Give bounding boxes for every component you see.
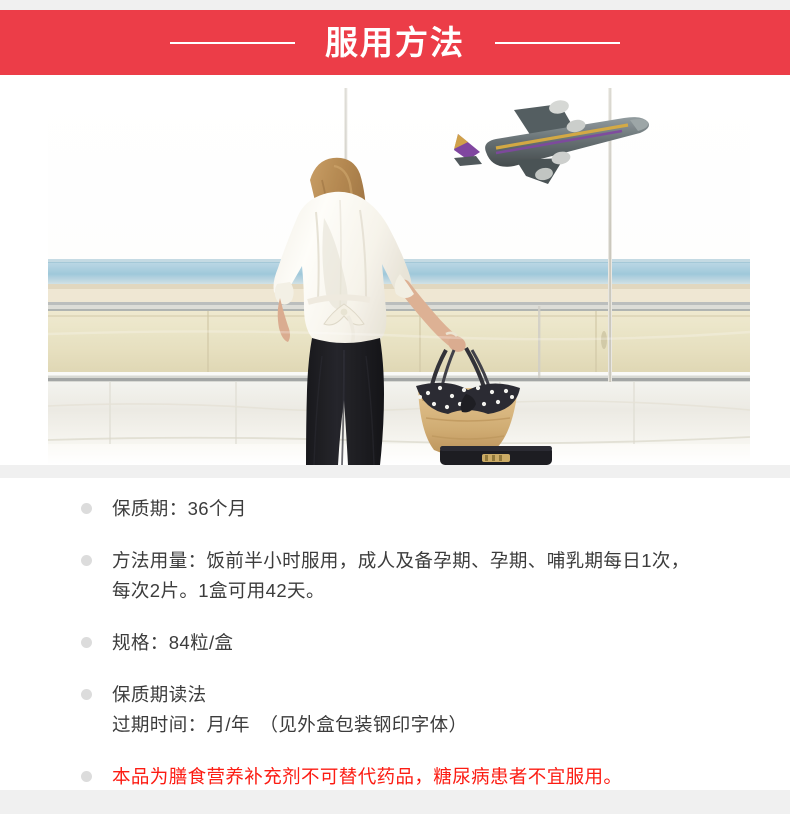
date-reading-text: 保质期读法 过期时间：月/年 （见外盒包装钢印字体）: [112, 684, 758, 740]
list-item-dosage: 方法用量：饭前半小时服用，成人及备孕期、孕期、哺乳期每日1次， 每次2片。1盒可…: [78, 546, 758, 606]
usage-info-card: 保质期：36个月 方法用量：饭前半小时服用，成人及备孕期、孕期、哺乳期每日1次，…: [0, 478, 790, 790]
shelf-life-text: 保质期：36个月: [112, 498, 247, 519]
date-reading-line-1: 保质期读法: [112, 684, 207, 705]
bullet-dot-icon: [81, 637, 92, 648]
specification-text: 规格：84粒/盒: [112, 632, 233, 653]
bullet-dot-icon: [81, 689, 92, 700]
list-item-specification: 规格：84粒/盒: [78, 628, 758, 658]
decorative-rule-right-icon: [495, 42, 620, 44]
airport-scene-illustration: [48, 88, 750, 465]
dosage-line-1: 方法用量：饭前半小时服用，成人及备孕期、孕期、哺乳期每日1次，: [112, 550, 690, 571]
warning-text: 本品为膳食营养补充剂不可替代药品，糖尿病患者不宜服用。: [112, 766, 622, 787]
dosage-text: 方法用量：饭前半小时服用，成人及备孕期、孕期、哺乳期每日1次， 每次2片。1盒可…: [112, 550, 758, 606]
airport-traveler-photo: [48, 88, 750, 465]
date-reading-line-2: 过期时间：月/年 （见外盒包装钢印字体）: [112, 710, 758, 740]
list-item-shelf-life: 保质期：36个月: [78, 494, 758, 524]
list-item-warning: 本品为膳食营养补充剂不可替代药品，糖尿病患者不宜服用。: [78, 762, 758, 792]
bullet-dot-icon: [81, 771, 92, 782]
list-item-date-reading: 保质期读法 过期时间：月/年 （见外盒包装钢印字体）: [78, 680, 758, 740]
product-detail-page: 服用方法: [0, 0, 790, 800]
bullet-dot-icon: [81, 503, 92, 514]
section-divider: [0, 465, 790, 478]
bullet-dot-icon: [81, 555, 92, 566]
decorative-rule-left-icon: [170, 42, 295, 44]
bottom-strip: [0, 790, 790, 800]
page-title: 服用方法: [325, 26, 465, 59]
section-header-banner: 服用方法: [0, 10, 790, 75]
dosage-line-2: 每次2片。1盒可用42天。: [112, 576, 758, 606]
usage-bullet-list: 保质期：36个月 方法用量：饭前半小时服用，成人及备孕期、孕期、哺乳期每日1次，…: [78, 494, 758, 814]
hero-photo-card: [0, 75, 790, 465]
